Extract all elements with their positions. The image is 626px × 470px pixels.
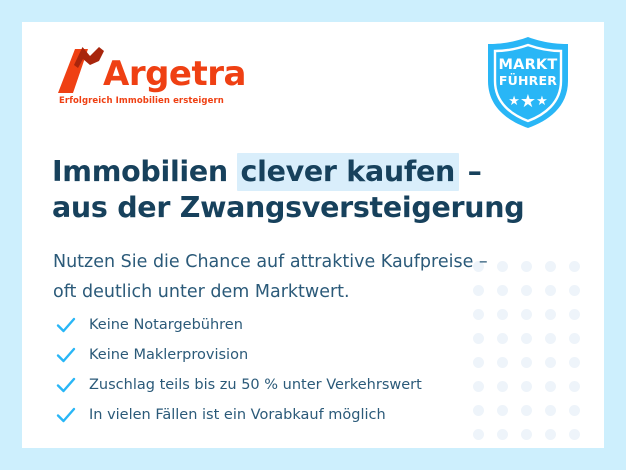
dot [569,381,580,392]
list-item: Keine Notargebühren [55,310,422,340]
dot [545,357,556,368]
promo-banner: Argetra Erfolgreich Immobilien ersteiger… [0,0,626,470]
check-icon [55,374,77,396]
dot [521,333,532,344]
dot [497,429,508,440]
benefits-checklist: Keine NotargebührenKeine Maklerprovision… [55,310,422,430]
page-title: Immobilien clever kaufen – aus der Zwang… [52,154,524,226]
dot [545,285,556,296]
dot [569,429,580,440]
subheading-line-2: oft deutlich unter dem Marktwert. [53,277,488,307]
headline-line-1: Immobilien clever kaufen – [52,154,524,190]
headline-text-after: – [458,155,482,188]
list-item: Zuschlag teils bis zu 50 % unter Verkehr… [55,370,422,400]
dot [473,309,484,320]
headline-line-2: aus der Zwangsversteigerung [52,190,524,226]
check-icon [55,314,77,336]
dot [497,405,508,416]
markt-fuehrer-badge: MARKT FÜHRER ★★★ [482,35,574,130]
list-item: Keine Maklerprovision [55,340,422,370]
dot [545,333,556,344]
subheading-line-1: Nutzen Sie die Chance auf attraktive Kau… [53,247,488,277]
headline-text-before: Immobilien [52,155,238,188]
headline-highlight: clever kaufen [237,153,459,191]
dot [545,261,556,272]
dot [545,429,556,440]
dot [521,285,532,296]
check-icon [55,404,77,426]
list-item-label: Zuschlag teils bis zu 50 % unter Verkehr… [89,376,422,394]
dot [569,309,580,320]
logo-tagline: Erfolgreich Immobilien ersteigern [58,96,238,106]
dot [569,261,580,272]
list-item: In vielen Fällen ist ein Vorabkauf mögli… [55,400,422,430]
dot [473,333,484,344]
logo-row: Argetra [58,45,238,93]
dot [497,309,508,320]
dot [545,381,556,392]
dot [521,261,532,272]
check-icon [55,344,77,366]
dot [521,381,532,392]
dot [497,381,508,392]
shield-badge-icon [482,35,574,130]
dot [569,357,580,368]
dot [521,405,532,416]
dot [473,405,484,416]
list-item-label: Keine Maklerprovision [89,346,248,364]
dot [473,429,484,440]
dot [569,333,580,344]
logo-wordmark: Argetra [103,57,246,91]
dot [497,357,508,368]
dot [497,261,508,272]
dot [545,309,556,320]
argetra-roof-a-mark-icon [58,45,104,93]
list-item-label: In vielen Fällen ist ein Vorabkauf mögli… [89,406,386,424]
dot [473,357,484,368]
banner-canvas: Argetra Erfolgreich Immobilien ersteiger… [22,22,604,448]
dot [497,285,508,296]
dot [521,429,532,440]
dot [497,333,508,344]
subheading: Nutzen Sie die Chance auf attraktive Kau… [53,247,488,307]
dot [569,285,580,296]
dot [473,381,484,392]
dot [545,405,556,416]
list-item-label: Keine Notargebühren [89,316,243,334]
dot [521,357,532,368]
dot [569,405,580,416]
argetra-logo: Argetra Erfolgreich Immobilien ersteiger… [58,45,238,106]
dot [521,309,532,320]
